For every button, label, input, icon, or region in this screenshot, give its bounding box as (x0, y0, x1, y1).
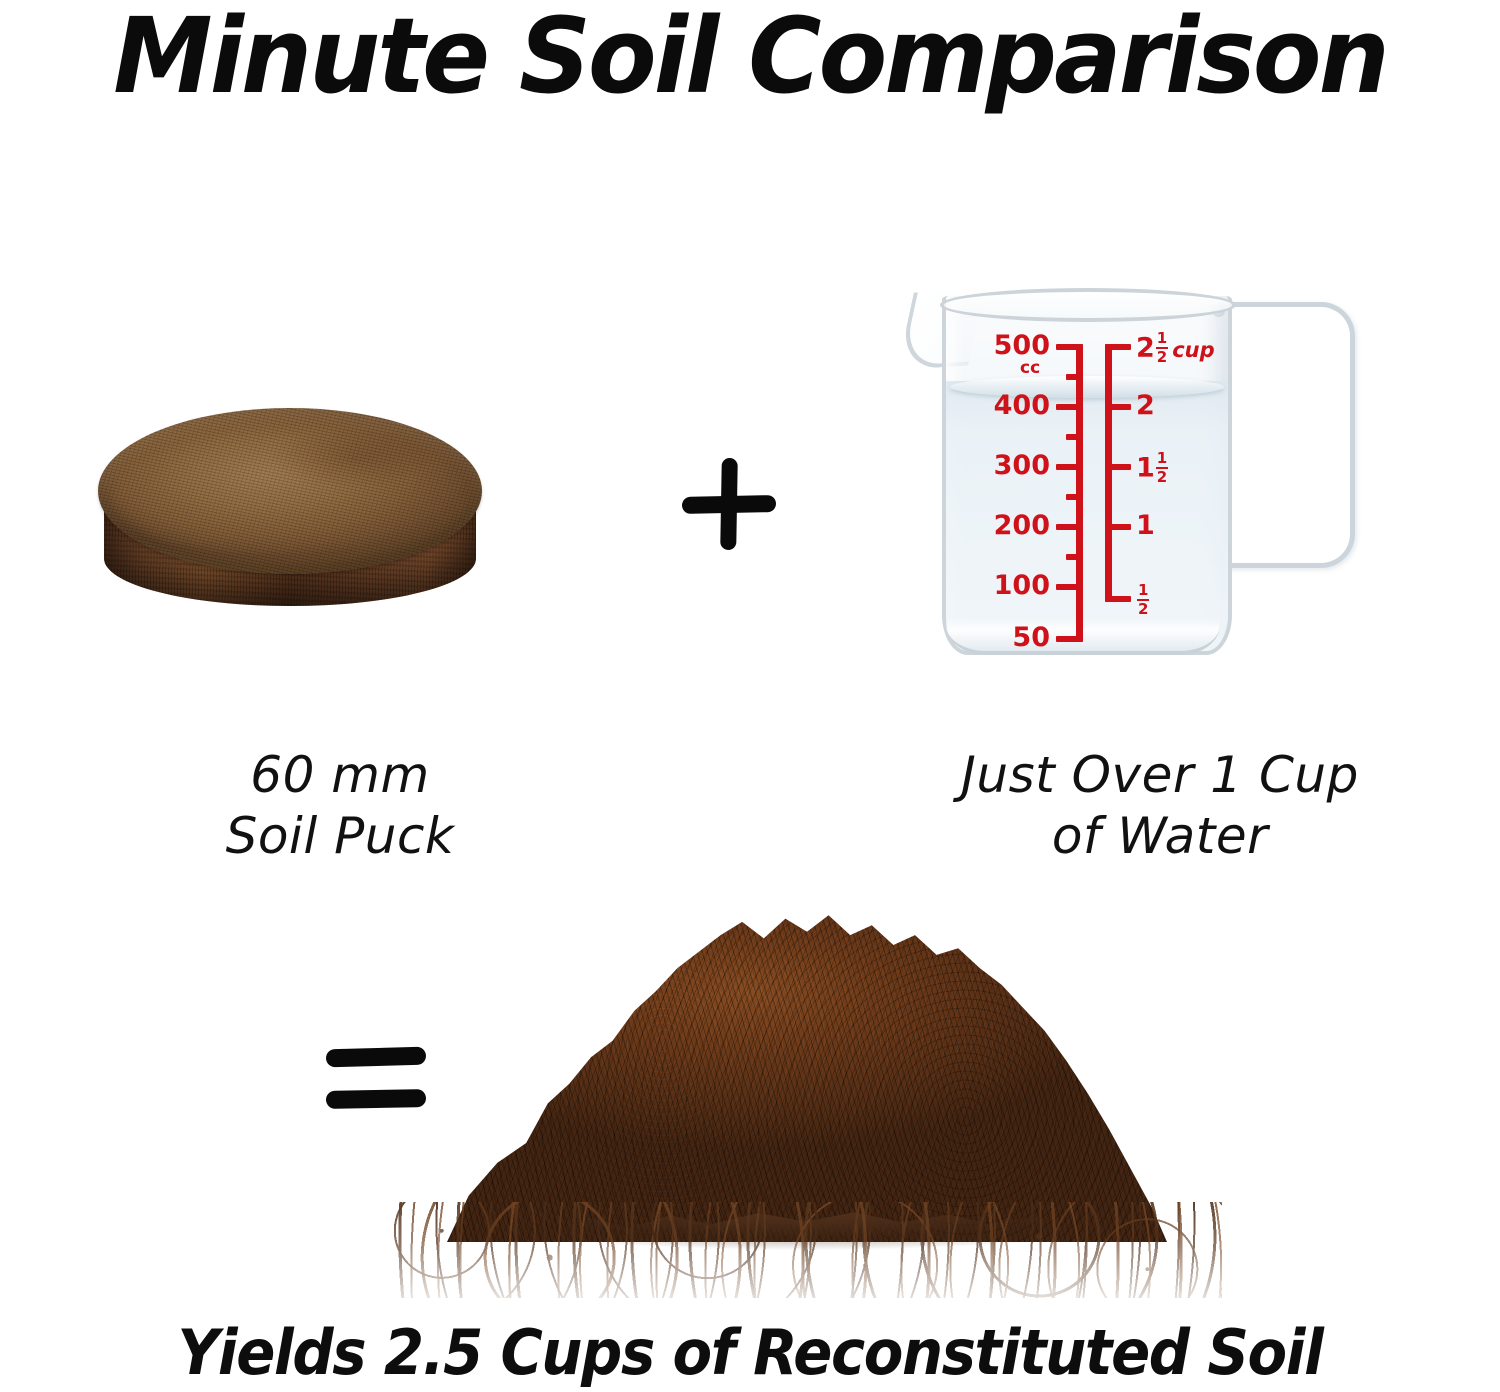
measuring-cup-caption: Just Over 1 Cup of Water (840, 745, 1480, 867)
cup-rim (940, 288, 1236, 322)
plus-vertical-stroke (720, 458, 738, 550)
cup-body (942, 296, 1232, 655)
soil-puck-caption: 60 mm Soil Puck (60, 745, 620, 867)
cup-water-fill (946, 381, 1228, 651)
plus-icon (674, 452, 786, 556)
measuring-cup-image: 500 cc 400 300 200 100 50 212cup 2 112 1… (900, 272, 1370, 672)
page-title: Minute Soil Comparison (30, 2, 1470, 111)
soil-pile-crumbs (392, 1202, 1222, 1298)
soil-puck-image (98, 408, 482, 630)
soil-pile-mound (447, 912, 1167, 1242)
yield-caption: Yields 2.5 Cups of Reconstituted Soil (53, 1316, 1448, 1389)
cup-base (946, 617, 1220, 655)
reconstituted-soil-image (392, 858, 1222, 1298)
cup-handle (1218, 302, 1355, 568)
soil-puck-top (98, 408, 482, 574)
infographic-canvas: Minute Soil Comparison (0, 0, 1500, 1392)
